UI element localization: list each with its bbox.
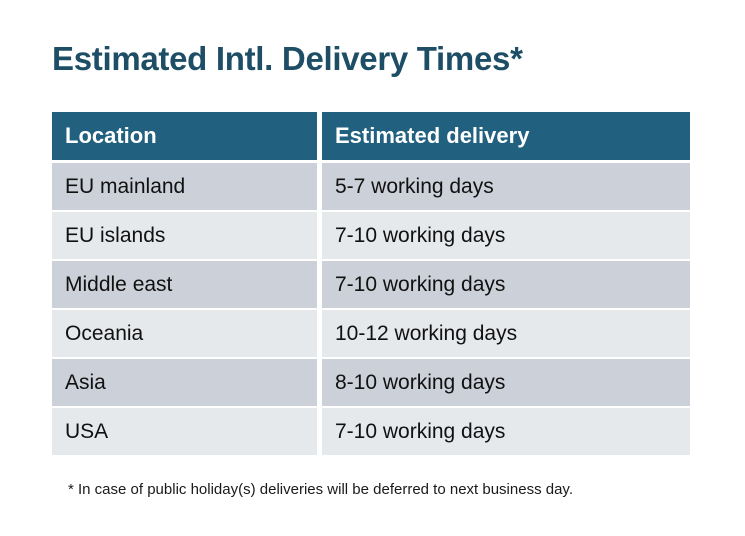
cell-estimated-delivery: 10-12 working days [322, 310, 690, 357]
table-row: Oceania 10-12 working days [52, 310, 690, 357]
cell-location: Middle east [52, 261, 317, 308]
footnote-text: * In case of public holiday(s) deliverie… [68, 480, 573, 500]
cell-estimated-delivery: 7-10 working days [322, 212, 690, 259]
estimated-delivery-times-table: Location Estimated delivery EU mainland … [52, 112, 690, 457]
cell-location: EU mainland [52, 163, 317, 210]
table-header-row: Location Estimated delivery [52, 112, 690, 160]
cell-location: Oceania [52, 310, 317, 357]
cell-location: USA [52, 408, 317, 455]
delivery-times-page: Estimated Intl. Delivery Times* Location… [0, 0, 745, 536]
column-header-location: Location [52, 112, 317, 160]
column-header-estimated-delivery: Estimated delivery [322, 112, 690, 160]
table-row: EU islands 7-10 working days [52, 212, 690, 259]
cell-location: Asia [52, 359, 317, 406]
table-row: EU mainland 5-7 working days [52, 163, 690, 210]
cell-estimated-delivery: 7-10 working days [322, 261, 690, 308]
table-row: Asia 8-10 working days [52, 359, 690, 406]
cell-estimated-delivery: 7-10 working days [322, 408, 690, 455]
table-row: USA 7-10 working days [52, 408, 690, 455]
cell-estimated-delivery: 8-10 working days [322, 359, 690, 406]
table-row: Middle east 7-10 working days [52, 261, 690, 308]
cell-estimated-delivery: 5-7 working days [322, 163, 690, 210]
cell-location: EU islands [52, 212, 317, 259]
page-title: Estimated Intl. Delivery Times* [52, 38, 523, 80]
